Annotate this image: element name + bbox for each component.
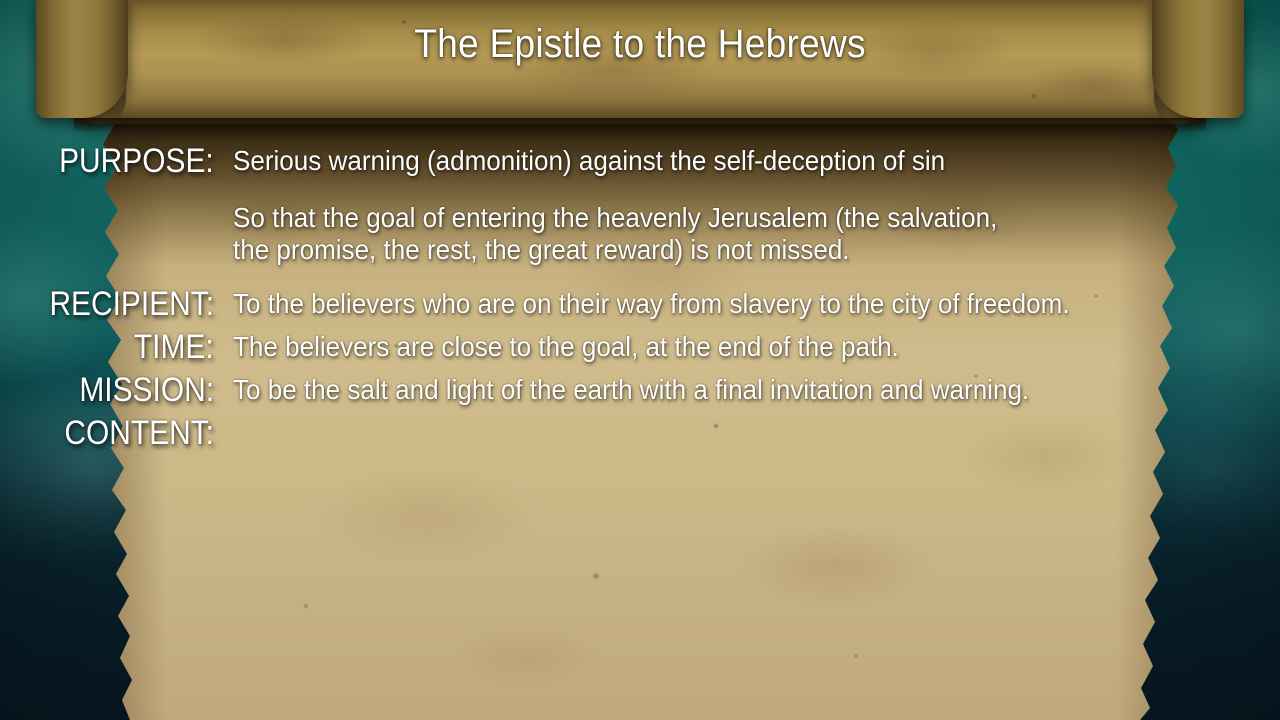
label-cell-recipient: RECIPIENT: [0,285,220,324]
row-spacer [0,271,1280,285]
label-cell-time: TIME: [0,328,220,367]
label-cell-mission: MISSION: [0,371,220,410]
body-line: To the believers who are on their way fr… [233,288,1207,320]
content-list: PURPOSE: Serious warning (admonition) ag… [0,142,1280,457]
label-purpose: PURPOSE: [59,142,214,181]
row-purpose: PURPOSE: Serious warning (admonition) ag… [0,142,1280,181]
body-cell-content [220,414,1280,417]
body-cell-mission: To be the salt and light of the earth wi… [220,371,1280,406]
body-line: Serious warning (admonition) against the… [233,145,1207,177]
label-cell-content: CONTENT: [0,414,220,453]
label-content: CONTENT: [64,414,214,453]
row-recipient: RECIPIENT: To the believers who are on t… [0,285,1280,324]
row-purpose-continued: So that the goal of entering the heavenl… [0,199,1280,267]
body-line: the promise, the rest, the great reward)… [233,234,1207,266]
body-line: To be the salt and light of the earth wi… [233,374,1207,406]
row-spacer [0,185,1280,199]
label-recipient: RECIPIENT: [49,285,214,324]
roller-under-shadow [74,118,1206,132]
row-mission: MISSION: To be the salt and light of the… [0,371,1280,410]
row-time: TIME: The believers are close to the goa… [0,328,1280,367]
label-cell-purpose: PURPOSE: [0,142,220,181]
body-line: The believers are close to the goal, at … [233,331,1207,363]
page-title: The Epistle to the Hebrews [45,22,1235,67]
row-content: CONTENT: [0,414,1280,453]
presentation-slide: The Epistle to the Hebrews PURPOSE: Seri… [0,0,1280,720]
body-cell-recipient: To the believers who are on their way fr… [220,285,1280,320]
body-cell-purpose: Serious warning (admonition) against the… [220,142,1280,177]
body-line: So that the goal of entering the heavenl… [233,202,1207,234]
body-cell-purpose-continued: So that the goal of entering the heavenl… [220,199,1280,267]
label-mission: MISSION: [79,371,214,410]
label-cell-purpose-continued [0,199,220,217]
body-cell-time: The believers are close to the goal, at … [220,328,1280,363]
label-time: TIME: [134,328,214,367]
